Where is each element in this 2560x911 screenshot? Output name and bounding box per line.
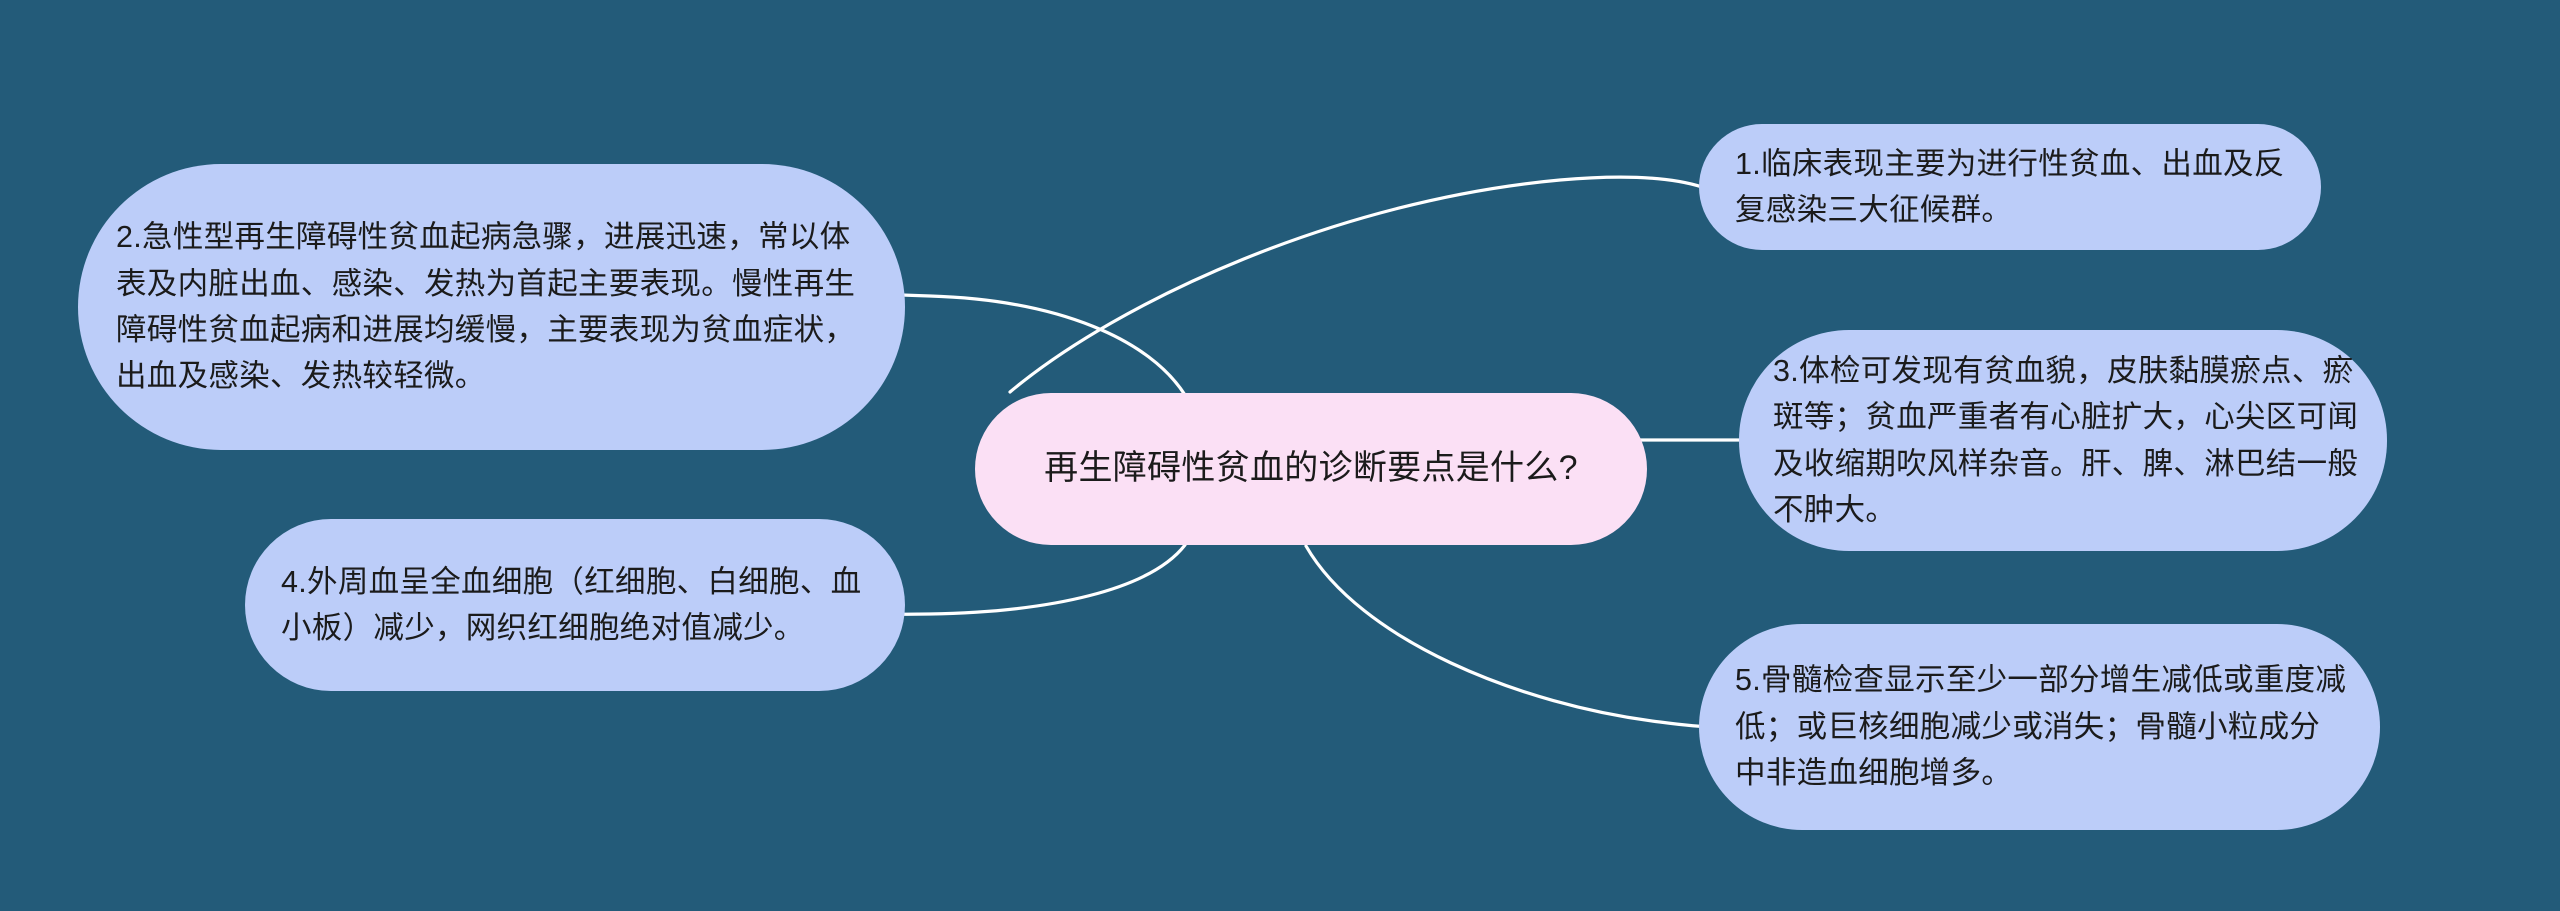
- center-node-label: 再生障碍性贫血的诊断要点是什么?: [1021, 443, 1601, 495]
- branch-node-5[interactable]: 5.骨髓检查显示至少一部分增生减低或重度减低；或巨核细胞减少或消失；骨髓小粒成分…: [1699, 624, 2380, 830]
- branch-node-2-label: 2.急性型再生障碍性贫血起病急骤，进展迅速，常以体表及内脏出血、感染、发热为首起…: [116, 214, 873, 399]
- branch-node-2[interactable]: 2.急性型再生障碍性贫血起病急骤，进展迅速，常以体表及内脏出血、感染、发热为首起…: [78, 164, 905, 450]
- mind-map-canvas: 2.急性型再生障碍性贫血起病急骤，进展迅速，常以体表及内脏出血、感染、发热为首起…: [0, 0, 2560, 911]
- connector-to-branch-1: [1010, 177, 1702, 392]
- connector-to-branch-5: [1306, 546, 1716, 727]
- branch-node-4-label: 4.外周血呈全血细胞（红细胞、白细胞、血小板）减少，网织红细胞绝对值减少。: [281, 559, 875, 652]
- branch-node-1[interactable]: 1.临床表现主要为进行性贫血、出血及反复感染三大征候群。: [1699, 124, 2321, 250]
- branch-node-3-label: 3.体检可发现有贫血貌，皮肤黏膜瘀点、瘀斑等；贫血严重者有心脏扩大，心尖区可闻及…: [1773, 348, 2359, 533]
- branch-node-3[interactable]: 3.体检可发现有贫血貌，皮肤黏膜瘀点、瘀斑等；贫血严重者有心脏扩大，心尖区可闻及…: [1739, 330, 2387, 551]
- branch-node-4[interactable]: 4.外周血呈全血细胞（红细胞、白细胞、血小板）减少，网织红细胞绝对值减少。: [245, 519, 905, 691]
- branch-node-5-label: 5.骨髓检查显示至少一部分增生减低或重度减低；或巨核细胞减少或消失；骨髓小粒成分…: [1735, 657, 2350, 796]
- center-node[interactable]: 再生障碍性贫血的诊断要点是什么?: [975, 393, 1647, 545]
- branch-node-1-label: 1.临床表现主要为进行性贫血、出血及反复感染三大征候群。: [1735, 141, 2289, 234]
